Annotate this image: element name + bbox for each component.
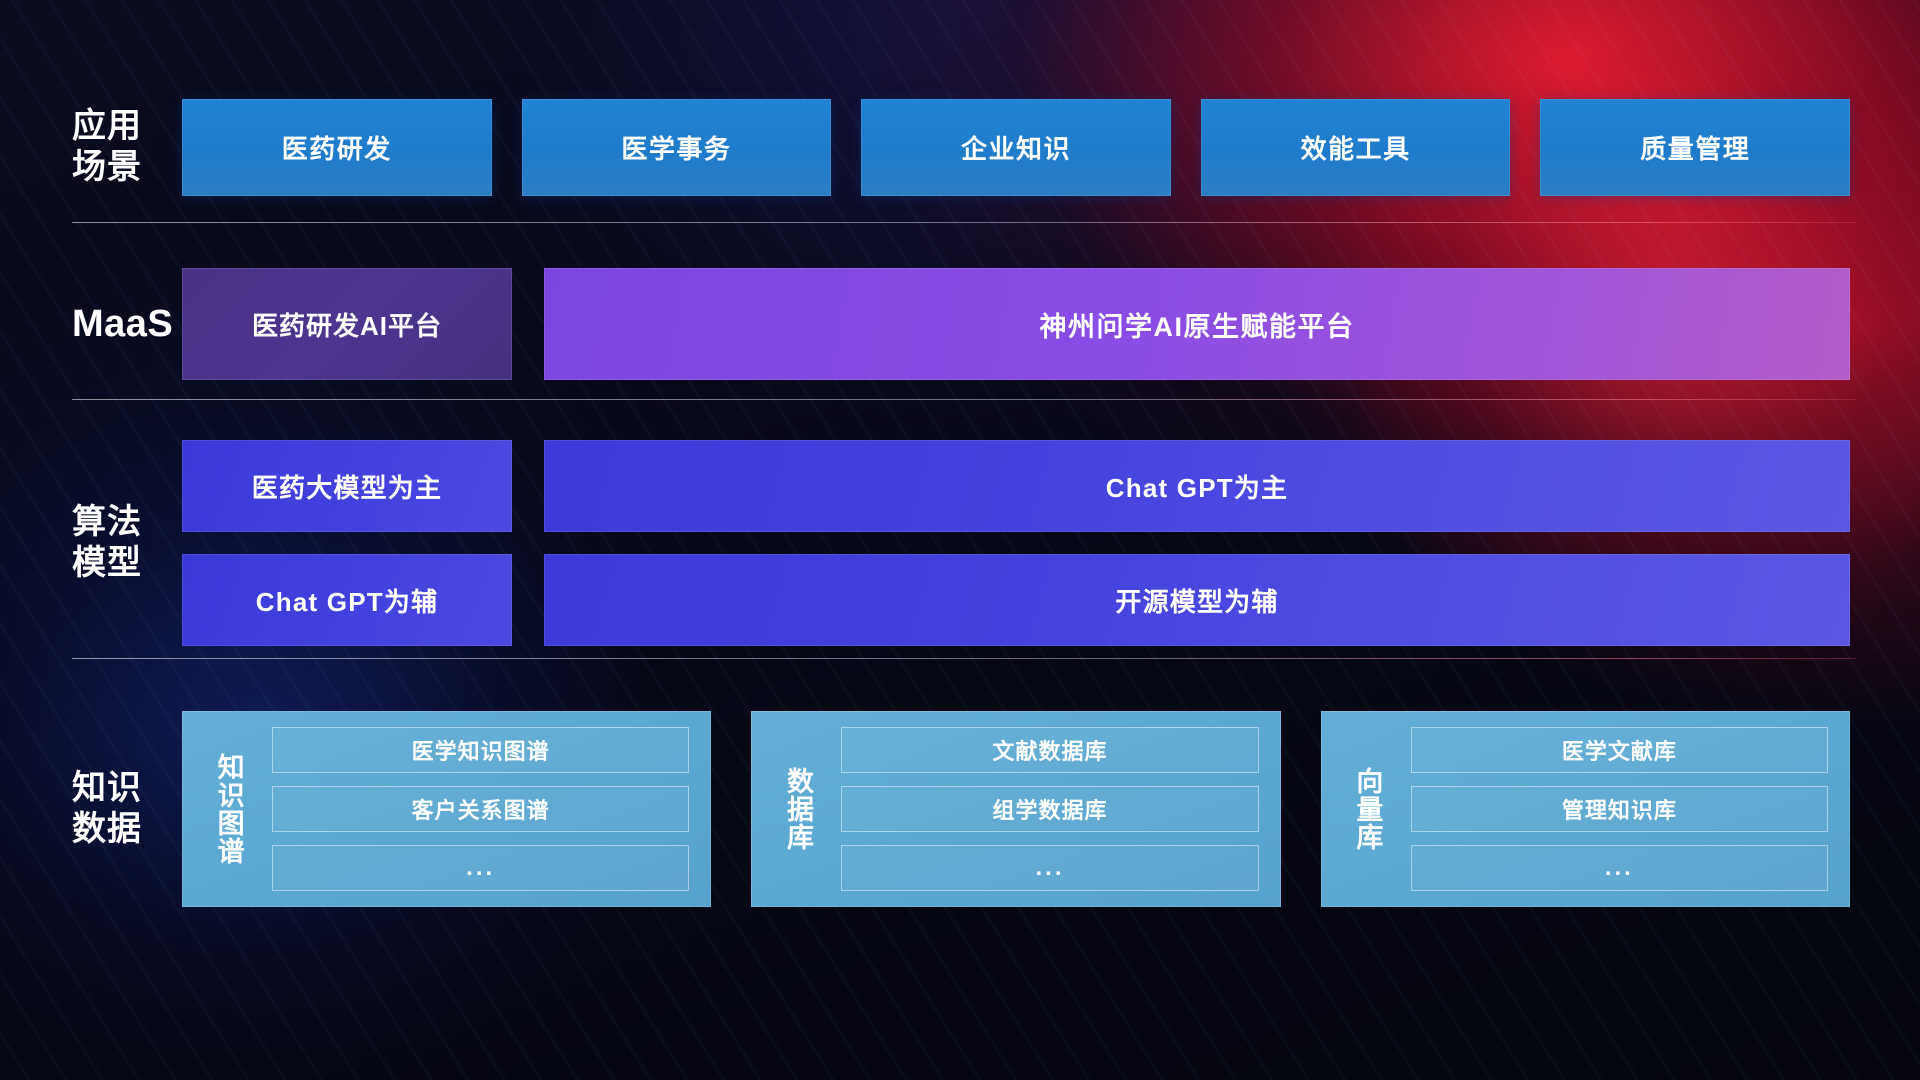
application-scenario-body: 医药研发 医学事务 企业知识 效能工具 质量管理 (182, 99, 1920, 196)
algorithm-line-secondary: Chat GPT为辅 开源模型为辅 (182, 554, 1850, 646)
maas-card-drug-rd-platform[interactable]: 医药研发AI平台 (182, 268, 512, 380)
diagram-content: 应用 场景 医药研发 医学事务 企业知识 效能工具 质量管理 MaaS 医药研发… (0, 72, 1920, 1080)
algorithm-card-medical-llm-primary[interactable]: 医药大模型为主 (182, 440, 512, 532)
knowledge-group-knowledge-graph[interactable]: 知识图谱 医学知识图谱 客户关系图谱 ... (182, 711, 711, 907)
algorithm-line-primary: 医药大模型为主 Chat GPT为主 (182, 440, 1850, 532)
maas-card-shenzhou-platform[interactable]: 神州问学AI原生赋能平台 (544, 268, 1850, 380)
scenario-card-medical-affairs[interactable]: 医学事务 (522, 99, 832, 196)
application-scenario-grid: 医药研发 医学事务 企业知识 效能工具 质量管理 (182, 99, 1850, 196)
divider-application-maas (72, 222, 1856, 223)
knowledge-group-vector-store[interactable]: 向量库 医学文献库 管理知识库 ... (1321, 711, 1850, 907)
knowledge-item-more-database[interactable]: ... (841, 845, 1258, 891)
knowledge-data-body: 知识图谱 医学知识图谱 客户关系图谱 ... 数据库 文献数据库 组学数据库 .… (182, 711, 1920, 907)
knowledge-data-label: 知识 数据 (0, 768, 182, 851)
algorithm-card-opensource-secondary[interactable]: 开源模型为辅 (544, 554, 1850, 646)
knowledge-item-omics-database[interactable]: 组学数据库 (841, 786, 1258, 832)
algorithm-card-chatgpt-primary[interactable]: Chat GPT为主 (544, 440, 1850, 532)
application-scenario-label: 应用 场景 (0, 106, 182, 189)
algorithm-model-row: 算法 模型 医药大模型为主 Chat GPT为主 Chat GPT为辅 开源模型… (0, 428, 1920, 658)
divider-algorithm-knowledge (72, 658, 1856, 659)
application-scenario-row: 应用 场景 医药研发 医学事务 企业知识 效能工具 质量管理 (0, 72, 1920, 222)
knowledge-group-title-vector-store: 向量库 (1341, 727, 1393, 891)
knowledge-group-items-vector-store: 医学文献库 管理知识库 ... (1411, 727, 1828, 891)
knowledge-item-more-knowledge-graph[interactable]: ... (272, 845, 689, 891)
algorithm-card-chatgpt-secondary[interactable]: Chat GPT为辅 (182, 554, 512, 646)
maas-grid: 医药研发AI平台 神州问学AI原生赋能平台 (182, 268, 1850, 380)
maas-label: MaaS (0, 301, 182, 347)
scenario-card-quality-management[interactable]: 质量管理 (1540, 99, 1850, 196)
knowledge-data-grid: 知识图谱 医学知识图谱 客户关系图谱 ... 数据库 文献数据库 组学数据库 .… (182, 711, 1850, 907)
knowledge-group-items-knowledge-graph: 医学知识图谱 客户关系图谱 ... (272, 727, 689, 891)
knowledge-item-more-vector-store[interactable]: ... (1411, 845, 1828, 891)
knowledge-group-title-knowledge-graph: 知识图谱 (202, 727, 254, 891)
knowledge-group-title-database: 数据库 (771, 727, 823, 891)
knowledge-data-row: 知识 数据 知识图谱 医学知识图谱 客户关系图谱 ... 数据库 (0, 689, 1920, 929)
knowledge-item-management-knowledge-store[interactable]: 管理知识库 (1411, 786, 1828, 832)
maas-row: MaaS 医药研发AI平台 神州问学AI原生赋能平台 (0, 249, 1920, 399)
knowledge-item-medical-knowledge-graph[interactable]: 医学知识图谱 (272, 727, 689, 773)
knowledge-item-customer-relation-graph[interactable]: 客户关系图谱 (272, 786, 689, 832)
divider-maas-algorithm (72, 399, 1856, 400)
knowledge-item-medical-literature-store[interactable]: 医学文献库 (1411, 727, 1828, 773)
scenario-card-efficiency-tools[interactable]: 效能工具 (1201, 99, 1511, 196)
knowledge-group-database[interactable]: 数据库 文献数据库 组学数据库 ... (751, 711, 1280, 907)
knowledge-item-literature-database[interactable]: 文献数据库 (841, 727, 1258, 773)
knowledge-group-items-database: 文献数据库 组学数据库 ... (841, 727, 1258, 891)
algorithm-model-stack: 医药大模型为主 Chat GPT为主 Chat GPT为辅 开源模型为辅 (182, 440, 1850, 646)
scenario-card-drug-rd[interactable]: 医药研发 (182, 99, 492, 196)
maas-body: 医药研发AI平台 神州问学AI原生赋能平台 (182, 268, 1920, 380)
architecture-diagram: 应用 场景 医药研发 医学事务 企业知识 效能工具 质量管理 MaaS 医药研发… (0, 0, 1920, 1080)
algorithm-model-label: 算法 模型 (0, 502, 182, 585)
scenario-card-enterprise-knowledge[interactable]: 企业知识 (861, 99, 1171, 196)
algorithm-model-body: 医药大模型为主 Chat GPT为主 Chat GPT为辅 开源模型为辅 (182, 440, 1920, 646)
